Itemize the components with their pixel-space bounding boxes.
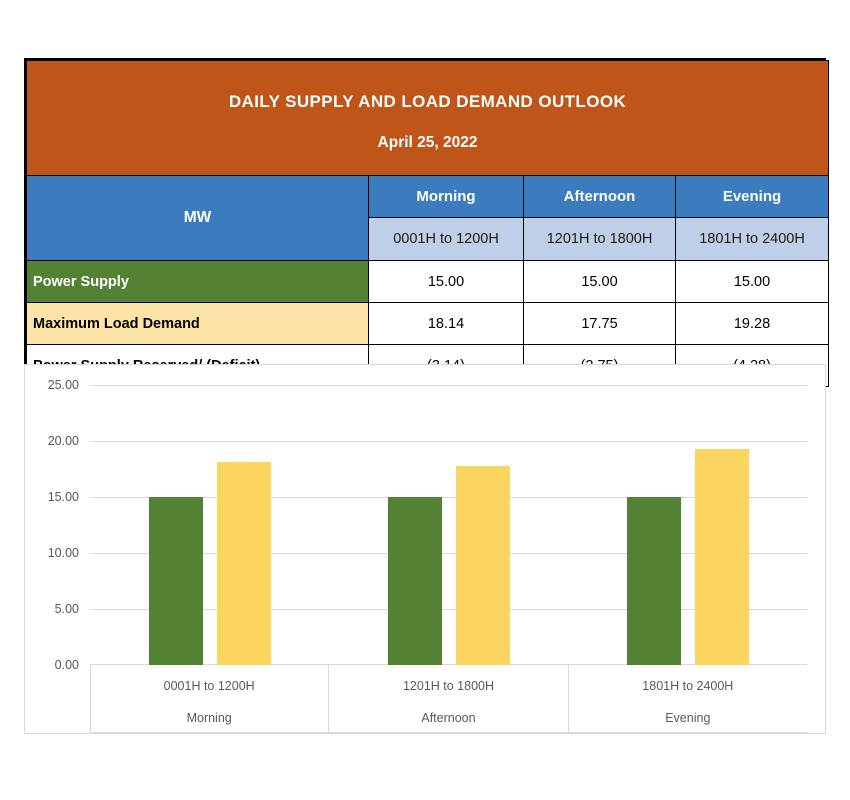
header-period-evening: Evening (676, 176, 829, 218)
table-row: Maximum Load Demand 18.14 17.75 19.28 (27, 303, 829, 345)
y-axis-tick-label: 20.00 (48, 434, 79, 448)
header-unit-mw: MW (27, 176, 369, 261)
x-axis-range-label: 0001H to 1200H (90, 665, 328, 693)
cell-power-supply-evening: 15.00 (676, 261, 829, 303)
x-axis-group: 0001H to 1200HMorning (90, 665, 329, 732)
bar-power-supply-3[interactable] (627, 497, 681, 665)
header-period-morning: Morning (369, 176, 524, 218)
y-axis-tick-label: 10.00 (48, 546, 79, 560)
bar-chart-container: 0.005.0010.0015.0020.0025.00 0001H to 12… (24, 364, 826, 734)
bar-maximum-load-demand-1[interactable] (217, 462, 271, 665)
bar-power-supply-1[interactable] (149, 497, 203, 665)
page-root: DAILY SUPPLY AND LOAD DEMAND OUTLOOK Apr… (0, 0, 850, 800)
x-axis-range-label: 1801H to 2400H (569, 665, 807, 693)
table-title-row: DAILY SUPPLY AND LOAD DEMAND OUTLOOK Apr… (27, 61, 829, 176)
x-axis-group: 1201H to 1800HAfternoon (329, 665, 568, 732)
table-row: Power Supply 15.00 15.00 15.00 (27, 261, 829, 303)
bar-group (329, 385, 568, 665)
report-date: April 25, 2022 (33, 112, 822, 152)
outlook-table: DAILY SUPPLY AND LOAD DEMAND OUTLOOK Apr… (26, 60, 829, 387)
y-axis-tick-label: 5.00 (55, 602, 79, 616)
header-range-afternoon: 1201H to 1800H (524, 218, 676, 261)
y-axis-tick-label: 0.00 (55, 658, 79, 672)
chart-y-axis: 0.005.0010.0015.0020.0025.00 (25, 385, 85, 665)
bar-maximum-load-demand-2[interactable] (456, 466, 510, 665)
page-title: DAILY SUPPLY AND LOAD DEMAND OUTLOOK (33, 84, 822, 112)
chart-x-axis: 0001H to 1200HMorning1201H to 1800HAfter… (90, 665, 807, 733)
cell-power-supply-morning: 15.00 (369, 261, 524, 303)
bar-power-supply-2[interactable] (388, 497, 442, 665)
cell-max-load-afternoon: 17.75 (524, 303, 676, 345)
x-axis-period-label: Afternoon (329, 693, 567, 725)
cell-max-load-evening: 19.28 (676, 303, 829, 345)
cell-max-load-morning: 18.14 (369, 303, 524, 345)
table-title-cell: DAILY SUPPLY AND LOAD DEMAND OUTLOOK Apr… (27, 61, 829, 176)
x-axis-range-label: 1201H to 1800H (329, 665, 567, 693)
chart-bar-groups (90, 385, 807, 665)
y-axis-tick-label: 15.00 (48, 490, 79, 504)
table-header-row-periods: MW Morning Afternoon Evening (27, 176, 829, 218)
x-axis-period-label: Evening (569, 693, 807, 725)
bar-group (90, 385, 329, 665)
outlook-table-container: DAILY SUPPLY AND LOAD DEMAND OUTLOOK Apr… (24, 58, 826, 389)
header-range-morning: 0001H to 1200H (369, 218, 524, 261)
row-label-power-supply: Power Supply (27, 261, 369, 303)
x-axis-group: 1801H to 2400HEvening (569, 665, 807, 732)
chart-plot-area (90, 385, 807, 665)
bar-maximum-load-demand-3[interactable] (695, 449, 749, 665)
header-period-afternoon: Afternoon (524, 176, 676, 218)
header-range-evening: 1801H to 2400H (676, 218, 829, 261)
bar-group (568, 385, 807, 665)
row-label-maximum-load-demand: Maximum Load Demand (27, 303, 369, 345)
y-axis-tick-label: 25.00 (48, 378, 79, 392)
cell-power-supply-afternoon: 15.00 (524, 261, 676, 303)
x-axis-period-label: Morning (90, 693, 328, 725)
